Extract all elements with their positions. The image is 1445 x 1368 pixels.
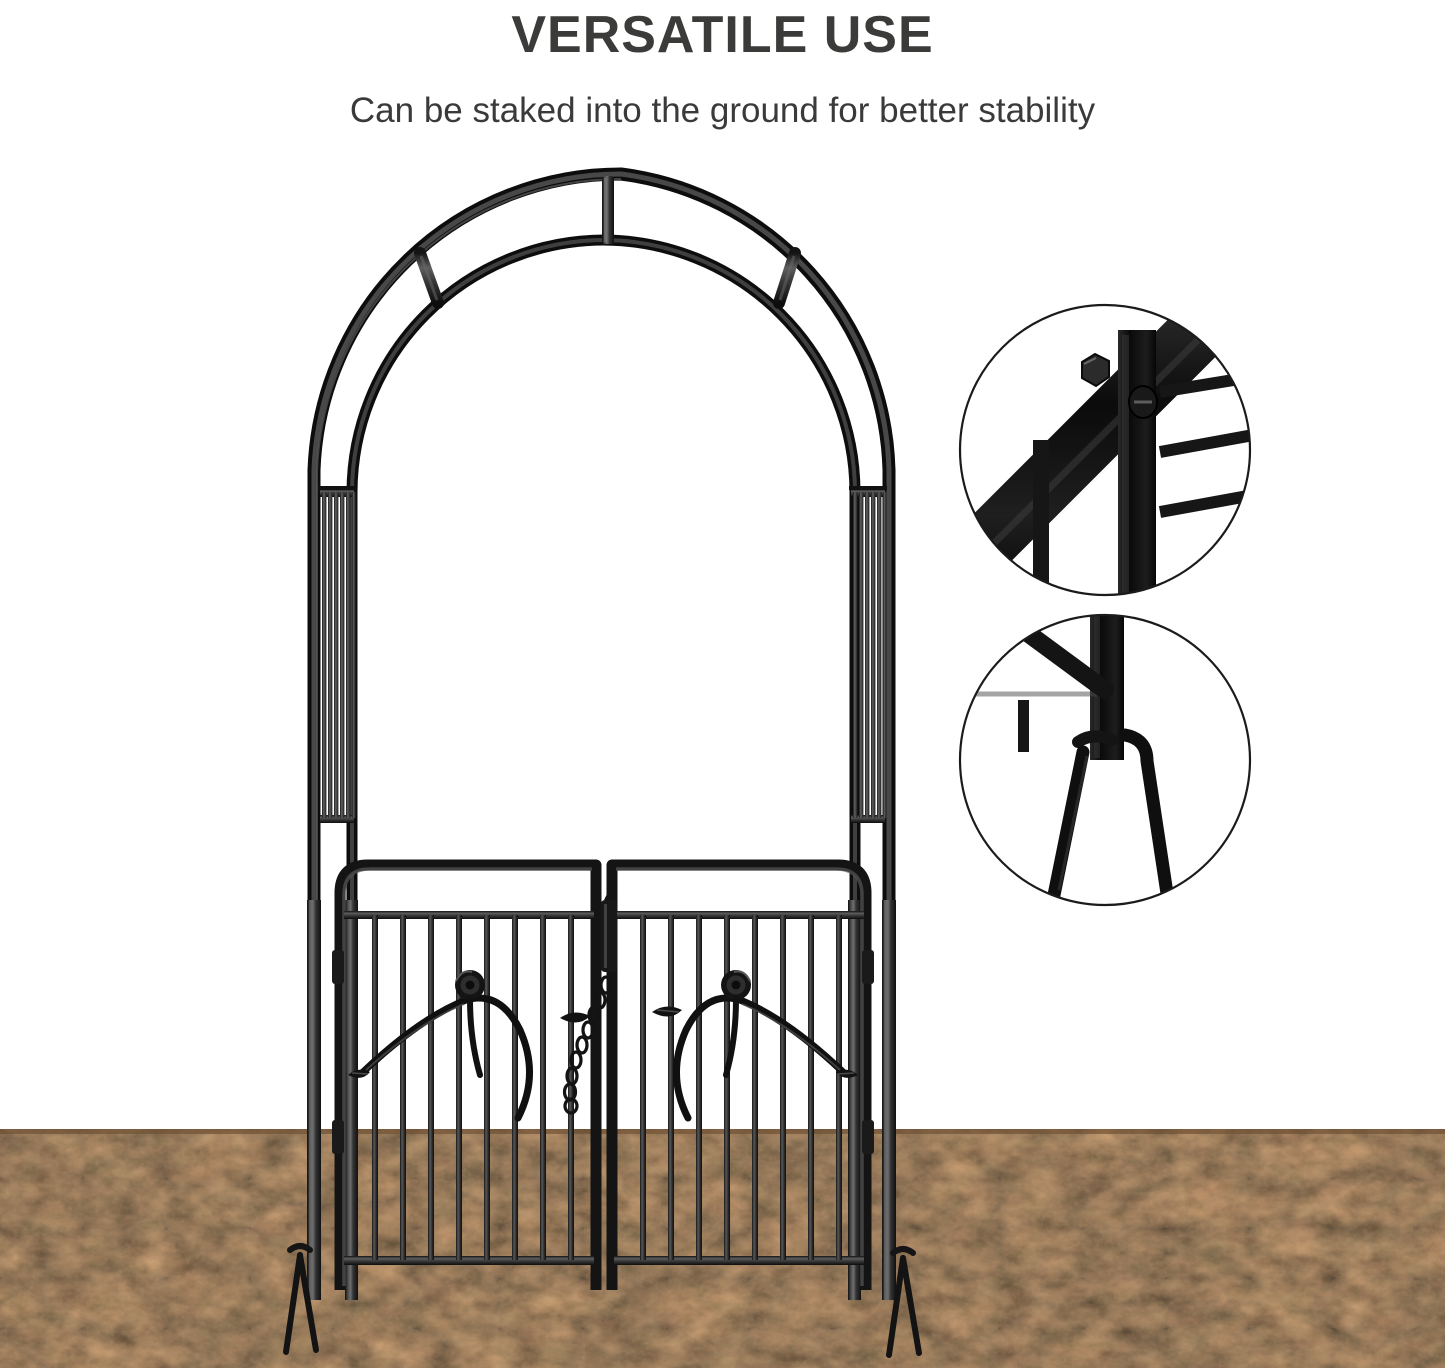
page-title: VERSATILE USE (0, 4, 1445, 66)
page-subtitle: Can be staked into the ground for better… (0, 88, 1445, 134)
callout-layer (0, 0, 1445, 1368)
callout-ground-stake (960, 600, 1250, 905)
screw-head (1129, 386, 1157, 418)
image-canvas: VERSATILE USE Can be staked into the gro… (0, 0, 1445, 1368)
callout-bolt-joint (930, 300, 1270, 615)
